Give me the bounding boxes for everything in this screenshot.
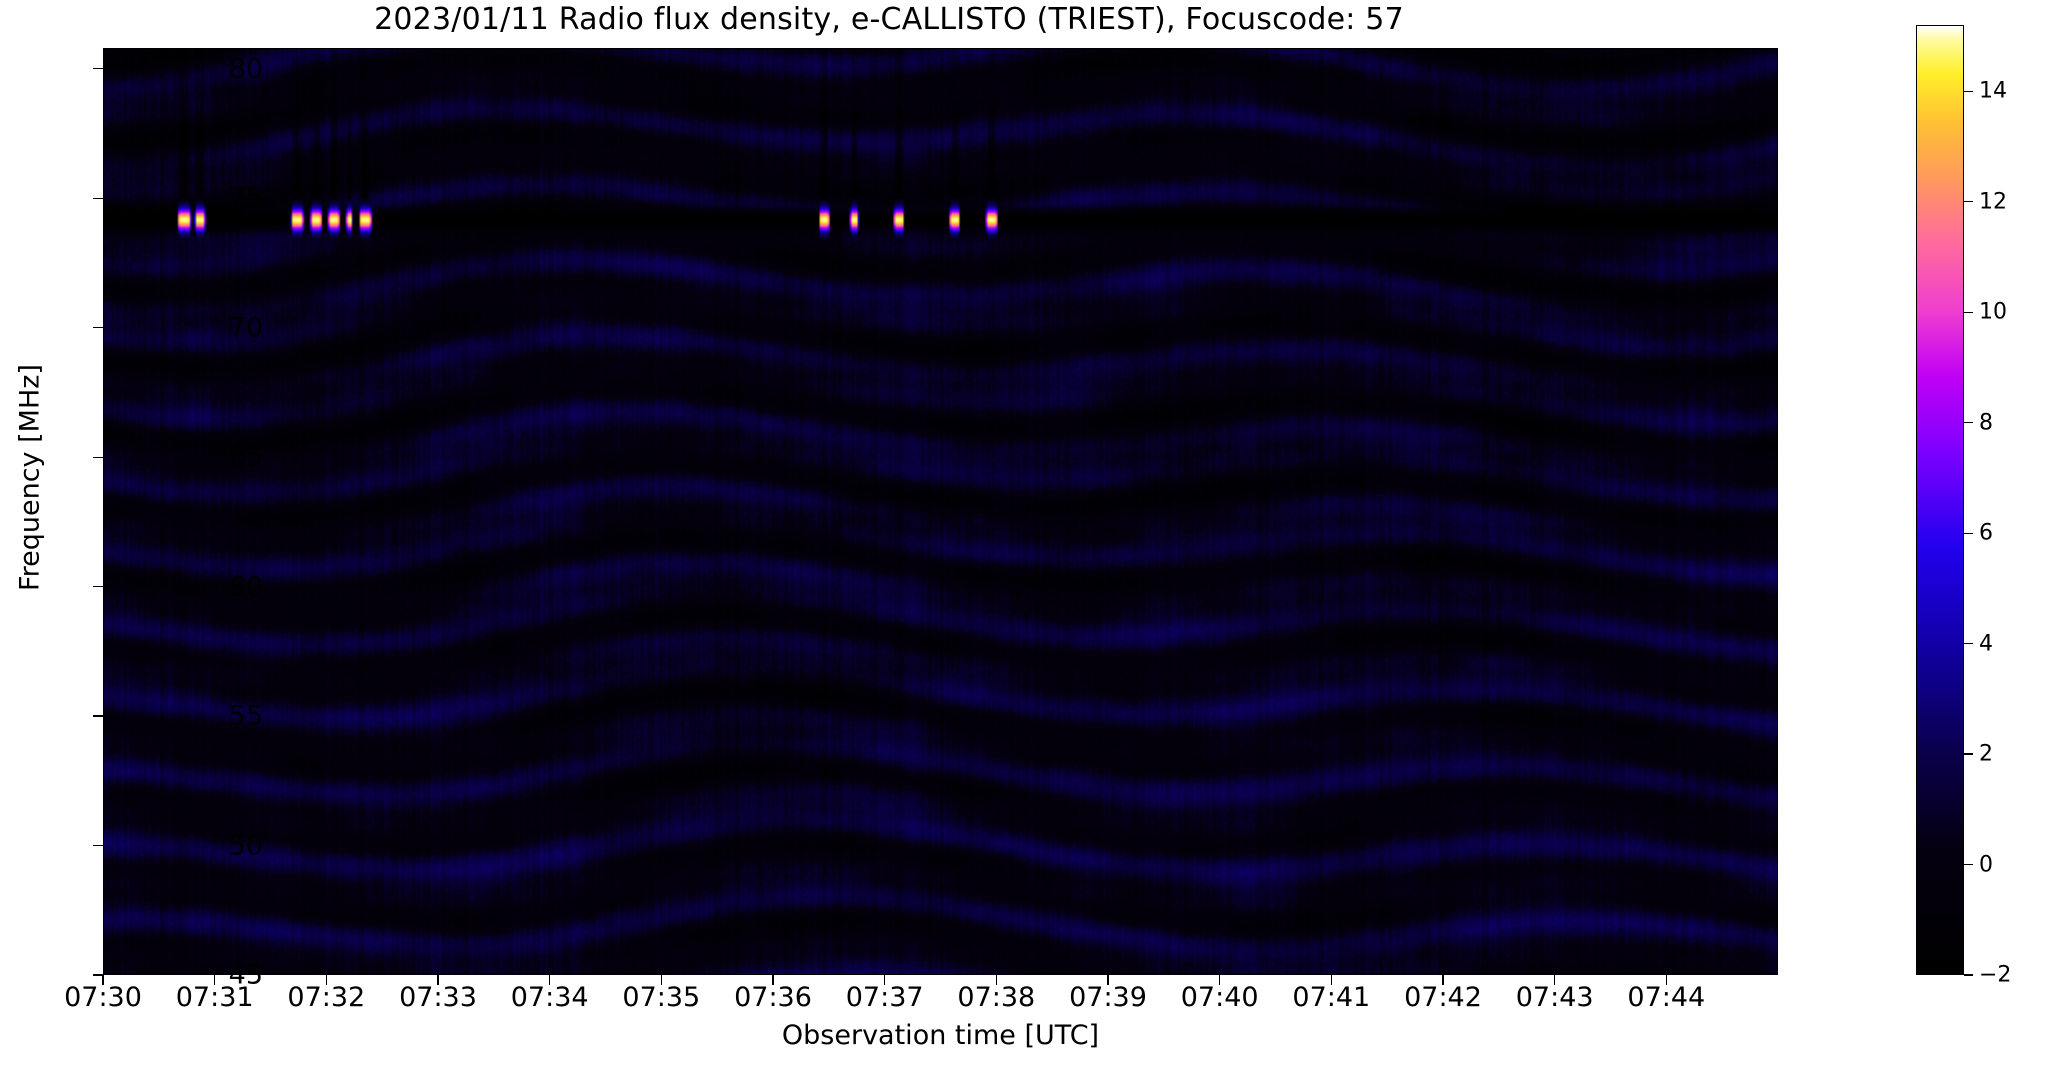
x-tick-label: 07:40: [1181, 982, 1259, 1013]
x-tick-label: 07:39: [1069, 982, 1147, 1013]
colorbar-tick-mark: [1964, 312, 1973, 313]
x-tick-mark: [996, 975, 997, 985]
y-tick-mark: [93, 68, 103, 69]
colorbar-tick-label: 12: [1979, 189, 2007, 214]
x-tick-label: 07:35: [622, 982, 700, 1013]
x-tick-mark: [1219, 975, 1220, 985]
x-tick-label: 07:37: [846, 982, 924, 1013]
y-tick-mark: [93, 198, 103, 199]
spectrogram-image: [104, 49, 1778, 975]
y-tick-mark: [93, 327, 103, 328]
x-tick-label: 07:30: [64, 982, 142, 1013]
x-tick-mark: [772, 975, 773, 985]
x-tick-label: 07:42: [1404, 982, 1482, 1013]
x-tick-label: 07:38: [957, 982, 1035, 1013]
colorbar-gradient: [1917, 26, 1963, 974]
colorbar-tick-label: 4: [1979, 631, 1993, 656]
colorbar-tick-label: 6: [1979, 521, 1993, 546]
spectrogram-axes: [103, 48, 1778, 975]
colorbar-tick-mark: [1964, 422, 1973, 423]
x-tick-mark: [1331, 975, 1332, 985]
x-tick-mark: [1107, 975, 1108, 985]
y-tick-mark: [93, 586, 103, 587]
x-tick-label: 07:33: [399, 982, 477, 1013]
x-tick-mark: [437, 975, 438, 985]
x-tick-mark: [661, 975, 662, 985]
colorbar-tick-mark: [1964, 974, 1973, 975]
x-tick-label: 07:31: [176, 982, 254, 1013]
x-tick-label: 07:44: [1627, 982, 1705, 1013]
colorbar-tick-label: 10: [1979, 300, 2007, 325]
colorbar-tick-label: −2: [1979, 963, 2011, 988]
x-tick-mark: [1666, 975, 1667, 985]
colorbar-tick-mark: [1964, 201, 1973, 202]
colorbar-tick-label: 0: [1979, 852, 1993, 877]
colorbar-tick-label: 2: [1979, 742, 1993, 767]
y-tick-mark: [93, 715, 103, 716]
colorbar-tick-mark: [1964, 533, 1973, 534]
x-tick-mark: [214, 975, 215, 985]
figure-title: 2023/01/11 Radio flux density, e-CALLIST…: [0, 2, 1778, 37]
y-axis-label: Frequency [MHz]: [15, 243, 46, 713]
x-tick-label: 07:32: [287, 982, 365, 1013]
colorbar-tick-mark: [1964, 864, 1973, 865]
y-tick-mark: [93, 457, 103, 458]
x-tick-label: 07:36: [734, 982, 812, 1013]
x-tick-mark: [1554, 975, 1555, 985]
colorbar-tick-label: 14: [1979, 79, 2007, 104]
x-tick-label: 07:34: [511, 982, 589, 1013]
x-tick-label: 07:43: [1516, 982, 1594, 1013]
colorbar-tick-mark: [1964, 643, 1973, 644]
x-tick-mark: [549, 975, 550, 985]
x-tick-label: 07:41: [1292, 982, 1370, 1013]
x-tick-mark: [1442, 975, 1443, 985]
x-axis-label: Observation time [UTC]: [103, 1020, 1778, 1051]
x-tick-mark: [884, 975, 885, 985]
figure-canvas: 2023/01/11 Radio flux density, e-CALLIST…: [0, 0, 2047, 1067]
colorbar-tick-mark: [1964, 91, 1973, 92]
x-tick-mark: [102, 975, 103, 985]
colorbar: [1916, 25, 1964, 975]
colorbar-tick-mark: [1964, 753, 1973, 754]
y-tick-mark: [93, 845, 103, 846]
colorbar-tick-label: 8: [1979, 410, 1993, 435]
x-tick-mark: [326, 975, 327, 985]
